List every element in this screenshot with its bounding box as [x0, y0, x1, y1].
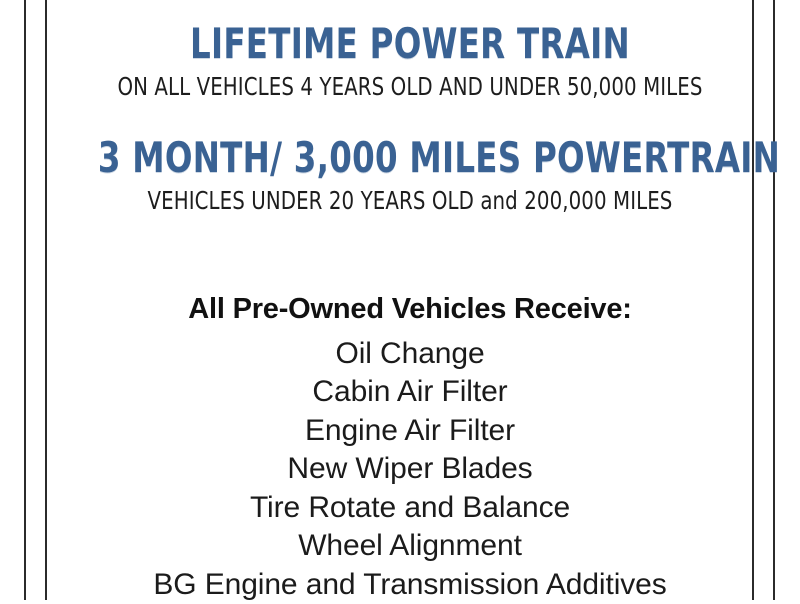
- three-month-powertrain-headline: 3 MONTH/ 3,000 MILES POWERTRAIN: [98, 137, 722, 180]
- list-item: Tire Rotate and Balance: [47, 489, 773, 528]
- list-item: Oil Change: [47, 335, 773, 374]
- warranty-block-lifetime-power-train: LIFETIME POWER TRAIN ON ALL VEHICLES 4 Y…: [47, 0, 773, 101]
- warranty-block-three-month-powertrain: 3 MONTH/ 3,000 MILES POWERTRAIN VEHICLES…: [47, 101, 773, 215]
- list-item: New Wiper Blades: [47, 450, 773, 489]
- list-item: Wheel Alignment: [47, 527, 773, 566]
- lifetime-power-train-subline: ON ALL VEHICLES 4 YEARS OLD AND UNDER 50…: [91, 72, 730, 101]
- services-list: Oil Change Cabin Air Filter Engine Air F…: [47, 335, 773, 604]
- three-month-powertrain-subline: VEHICLES UNDER 20 YEARS OLD and 200,000 …: [91, 186, 730, 215]
- services-section: All Pre-Owned Vehicles Receive: Oil Chan…: [47, 295, 773, 604]
- warranty-flyer: LIFETIME POWER TRAIN ON ALL VEHICLES 4 Y…: [0, 0, 800, 600]
- right-outer-rule: [773, 0, 775, 600]
- list-item: Cabin Air Filter: [47, 373, 773, 412]
- flyer-content: LIFETIME POWER TRAIN ON ALL VEHICLES 4 Y…: [47, 0, 773, 600]
- list-item: Engine Air Filter: [47, 412, 773, 451]
- list-item: BG Engine and Transmission Additives: [47, 566, 773, 604]
- left-outer-rule: [24, 0, 26, 600]
- lifetime-power-train-headline: LIFETIME POWER TRAIN: [98, 23, 722, 66]
- services-title: All Pre-Owned Vehicles Receive:: [47, 295, 773, 324]
